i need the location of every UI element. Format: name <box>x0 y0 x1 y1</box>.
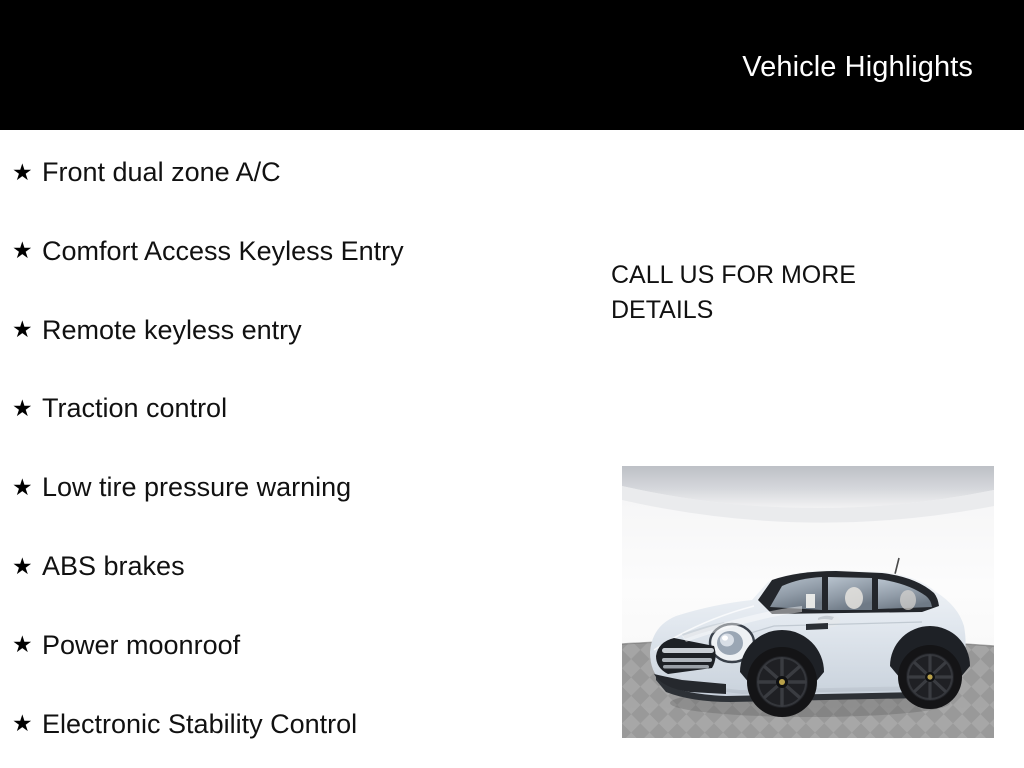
highlight-item-label: Front dual zone A/C <box>42 156 281 188</box>
header-bar: Vehicle Highlights <box>0 0 1024 130</box>
star-icon: ★ <box>12 397 42 420</box>
highlight-item-label: Remote keyless entry <box>42 314 302 346</box>
star-icon: ★ <box>12 555 42 578</box>
vehicle-photo-image <box>622 466 994 738</box>
highlight-item: ★Comfort Access Keyless Entry <box>12 234 404 268</box>
star-icon: ★ <box>12 712 42 735</box>
highlight-item-label: Low tire pressure warning <box>42 471 351 503</box>
call-us-line-2: DETAILS <box>611 293 941 328</box>
vehicle-photo <box>622 466 994 738</box>
star-icon: ★ <box>12 318 42 341</box>
page-title: Vehicle Highlights <box>742 50 973 84</box>
highlight-item: ★ABS brakes <box>12 549 185 583</box>
highlight-item: ★Front dual zone A/C <box>12 155 281 189</box>
highlight-item-label: Comfort Access Keyless Entry <box>42 235 404 267</box>
star-icon: ★ <box>12 161 42 184</box>
highlight-item-label: Power moonroof <box>42 629 240 661</box>
star-icon: ★ <box>12 633 42 656</box>
call-us-line-1: CALL US FOR MORE <box>611 258 941 293</box>
highlight-item-label: Traction control <box>42 392 227 424</box>
highlight-item: ★Electronic Stability Control <box>12 707 357 741</box>
highlight-item-label: ABS brakes <box>42 550 185 582</box>
highlight-item: ★Power moonroof <box>12 628 240 662</box>
vehicle-highlights-list: ★Front dual zone A/C★Comfort Access Keyl… <box>0 130 600 768</box>
call-us-text: CALL US FOR MORE DETAILS <box>611 258 941 328</box>
star-icon: ★ <box>12 476 42 499</box>
highlight-item: ★Traction control <box>12 391 227 425</box>
highlight-item-label: Electronic Stability Control <box>42 708 357 740</box>
star-icon: ★ <box>12 239 42 262</box>
highlight-item: ★Remote keyless entry <box>12 313 302 347</box>
highlight-item: ★Low tire pressure warning <box>12 470 351 504</box>
